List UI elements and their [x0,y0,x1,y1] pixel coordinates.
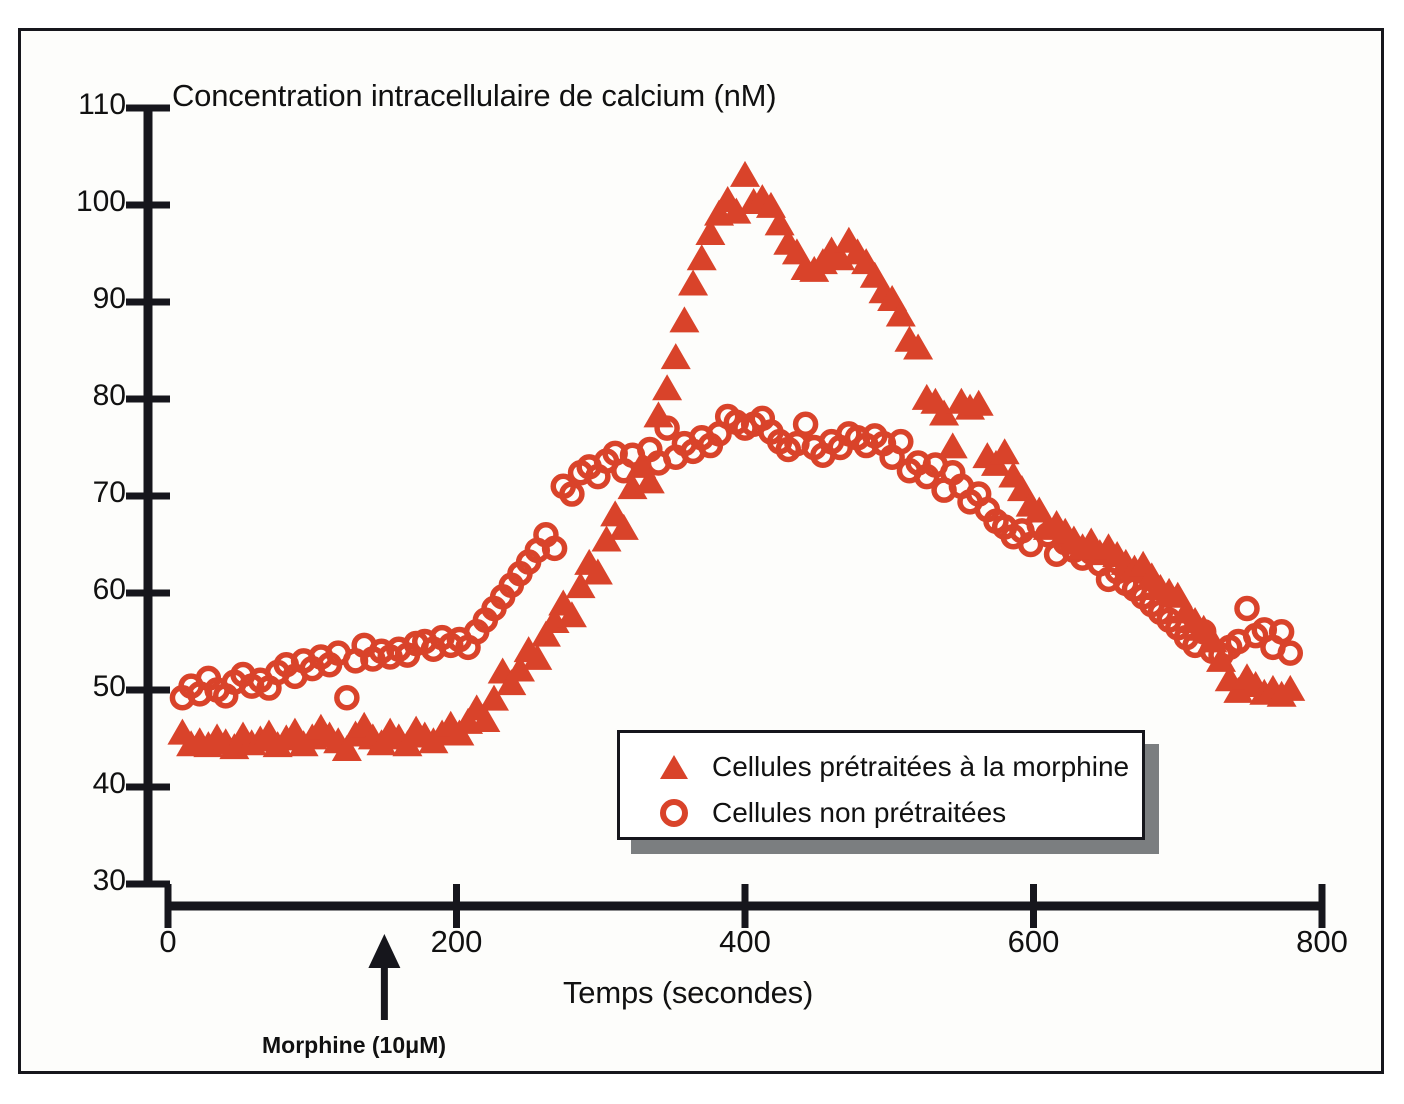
x-tick-label: 400 [700,924,790,960]
y-tick-label: 80 [56,379,126,413]
y-tick-label: 40 [56,767,126,801]
x-axis-title: Temps (secondes) [563,975,813,1011]
y-axis [126,108,170,884]
morphine-arrow-icon [368,934,400,1020]
x-tick-label: 0 [123,924,213,960]
circle-marker-icon [660,799,688,827]
morphine-annotation-label: Morphine (10μM) [262,1032,446,1059]
legend-label-pretreated: Cellules prétraitées à la morphine [712,751,1129,783]
series-untreated-points [172,406,1300,707]
y-tick-label: 50 [56,670,126,704]
x-tick-label: 600 [989,924,1079,960]
x-axis [168,884,1322,928]
legend-item-pretreated: Cellules prétraitées à la morphine [660,747,1129,787]
x-tick-label: 800 [1277,924,1367,960]
chart-legend: Cellules prétraitées à la morphine Cellu… [617,730,1145,840]
x-tick-label: 200 [412,924,502,960]
legend-label-untreated: Cellules non prétraitées [712,797,1006,829]
y-tick-label: 100 [56,185,126,219]
y-tick-label: 60 [56,573,126,607]
y-tick-label: 110 [56,88,126,122]
y-tick-label: 70 [56,476,126,510]
triangle-marker-icon [660,755,688,779]
y-tick-label: 30 [56,864,126,898]
y-tick-label: 90 [56,282,126,316]
legend-item-untreated: Cellules non prétraitées [660,793,1006,833]
